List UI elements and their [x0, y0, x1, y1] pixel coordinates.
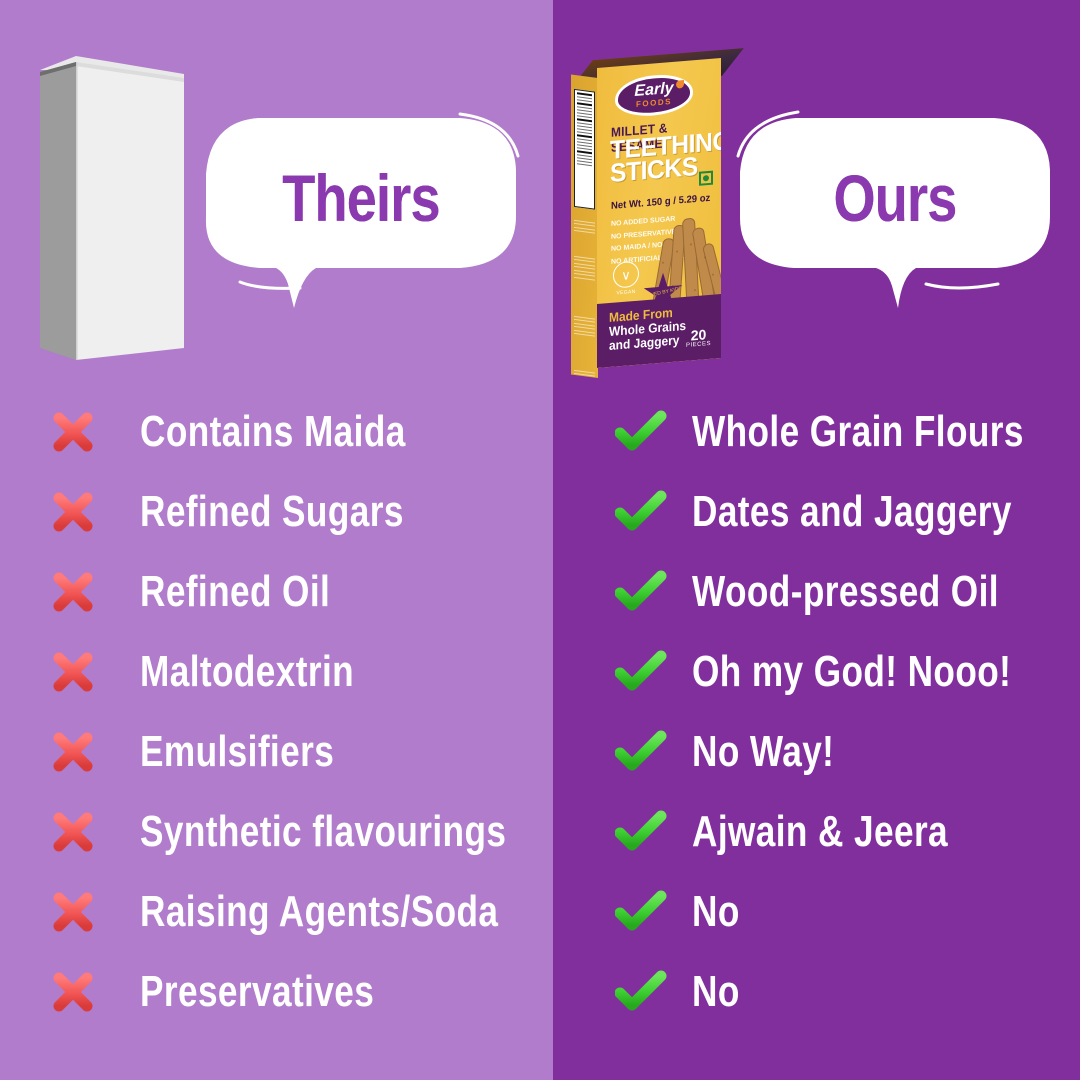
red-cross-icon — [44, 888, 102, 936]
green-check-icon — [612, 570, 670, 614]
carton-bottom-banner: Made From Whole Grainsand Jaggery 20 PIE… — [597, 294, 721, 368]
vegan-badge-icon: ∨ — [613, 261, 639, 289]
logo-leaf-icon — [676, 80, 684, 89]
list-item-label: Ajwain & Jeera — [692, 810, 948, 854]
vegetarian-mark-icon — [699, 171, 713, 186]
list-item-label: Refined Sugars — [140, 490, 404, 534]
list-item-label: Synthetic flavourings — [140, 810, 506, 854]
brand-subtext: FOODS — [636, 97, 672, 109]
green-check-icon — [612, 890, 670, 934]
green-check-icon — [612, 970, 670, 1014]
red-cross-icon — [44, 568, 102, 616]
banner-line-2: Whole Grainsand Jaggery — [609, 319, 686, 352]
green-check-icon — [612, 730, 670, 774]
red-cross-icon — [44, 968, 102, 1016]
list-item-label: Emulsifiers — [140, 730, 334, 774]
heading-ours: Ours — [760, 100, 1031, 296]
red-cross-icon — [44, 488, 102, 536]
list-item: Maltodextrin — [44, 632, 544, 712]
list-item: Whole Grain Flours — [612, 392, 1052, 472]
plain-white-carton — [32, 48, 192, 373]
list-item-label: No — [692, 970, 740, 1014]
green-check-icon — [612, 490, 670, 534]
carton-front-panel: Early FOODS MILLET & SESAME TEETHINGSTIC… — [597, 58, 721, 368]
list-item-label: Refined Oil — [140, 570, 330, 614]
theirs-ingredient-list: Contains Maida Refined Sugars Refined Oi… — [44, 392, 544, 1032]
green-check-icon — [612, 810, 670, 854]
list-item: Refined Sugars — [44, 472, 544, 552]
nutrition-facts-panel — [574, 89, 595, 210]
list-item: Preservatives — [44, 952, 544, 1032]
list-item: Raising Agents/Soda — [44, 872, 544, 952]
list-item-label: Raising Agents/Soda — [140, 890, 498, 934]
early-foods-logo: Early FOODS — [615, 72, 693, 118]
speech-bubble-theirs: Theirs — [198, 112, 524, 308]
heading-theirs: Theirs — [227, 100, 494, 296]
side-storage-text — [574, 253, 595, 283]
red-cross-icon — [44, 408, 102, 456]
list-item-label: Oh my God! Nooo! — [692, 650, 1011, 694]
list-item-label: Wood-pressed Oil — [692, 570, 999, 614]
side-manufacturer-text — [574, 313, 595, 339]
product-title-line2: STICKS — [610, 151, 698, 188]
list-item: Ajwain & Jeera — [612, 792, 1052, 872]
list-item: No — [612, 952, 1052, 1032]
red-cross-icon — [44, 648, 102, 696]
side-ingredients-text — [574, 217, 595, 236]
red-cross-icon — [44, 808, 102, 856]
list-item-label: No — [692, 890, 740, 934]
green-check-icon — [612, 650, 670, 694]
comparison-infographic: Early FOODS MILLET & SESAME TEETHINGSTIC… — [0, 0, 1080, 1080]
speech-bubble-ours: Ours — [730, 112, 1060, 308]
green-check-icon — [612, 410, 670, 454]
list-item-label: Dates and Jaggery — [692, 490, 1012, 534]
list-item-label: Whole Grain Flours — [692, 410, 1024, 454]
pieces-label: PIECES — [686, 341, 711, 349]
list-item: Oh my God! Nooo! — [612, 632, 1052, 712]
list-item: Contains Maida — [44, 392, 544, 472]
carton-side-panel — [571, 74, 598, 378]
list-item-label: Contains Maida — [140, 410, 406, 454]
list-item-label: Preservatives — [140, 970, 374, 1014]
list-item-label: Maltodextrin — [140, 650, 354, 694]
list-item: Dates and Jaggery — [612, 472, 1052, 552]
list-item-label: No Way! — [692, 730, 834, 774]
pieces-count-badge: 20 PIECES — [686, 327, 711, 349]
list-item: Synthetic flavourings — [44, 792, 544, 872]
early-foods-product-carton: Early FOODS MILLET & SESAME TEETHINGSTIC… — [571, 62, 721, 374]
vegan-badge-label: VEGAN — [613, 289, 639, 297]
list-item: No Way! — [612, 712, 1052, 792]
ours-ingredient-list: Whole Grain Flours Dates and Jaggery Woo… — [612, 392, 1052, 1032]
list-item: Wood-pressed Oil — [612, 552, 1052, 632]
list-item: Emulsifiers — [44, 712, 544, 792]
list-item: Refined Oil — [44, 552, 544, 632]
list-item: No — [612, 872, 1052, 952]
red-cross-icon — [44, 728, 102, 776]
